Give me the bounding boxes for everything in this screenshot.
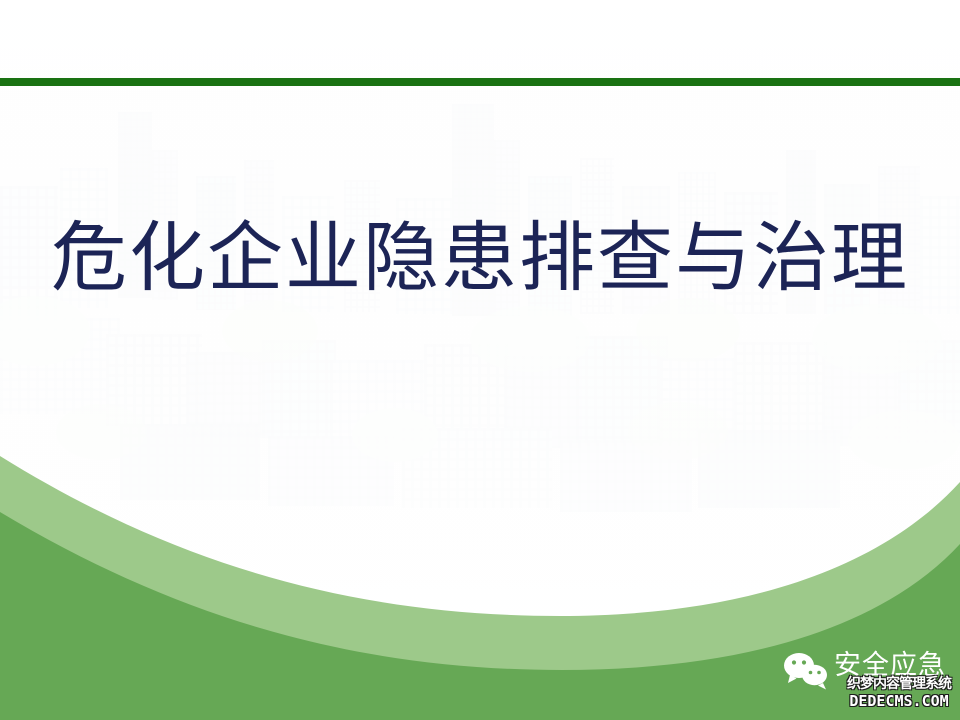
watermark-line-cn: 织梦内容管理系统 <box>838 676 960 692</box>
presentation-slide: 危化企业隐患排查与治理 安全应急 织梦内容管理系统 <box>0 0 960 720</box>
top-accent-rule <box>0 78 960 86</box>
watermark-line-en: DEDECMS.COM <box>838 692 960 710</box>
wechat-icon <box>782 650 830 690</box>
site-watermark: 织梦内容管理系统 DEDECMS.COM <box>838 676 960 710</box>
page-title: 危化企业隐患排查与治理 <box>0 208 960 308</box>
